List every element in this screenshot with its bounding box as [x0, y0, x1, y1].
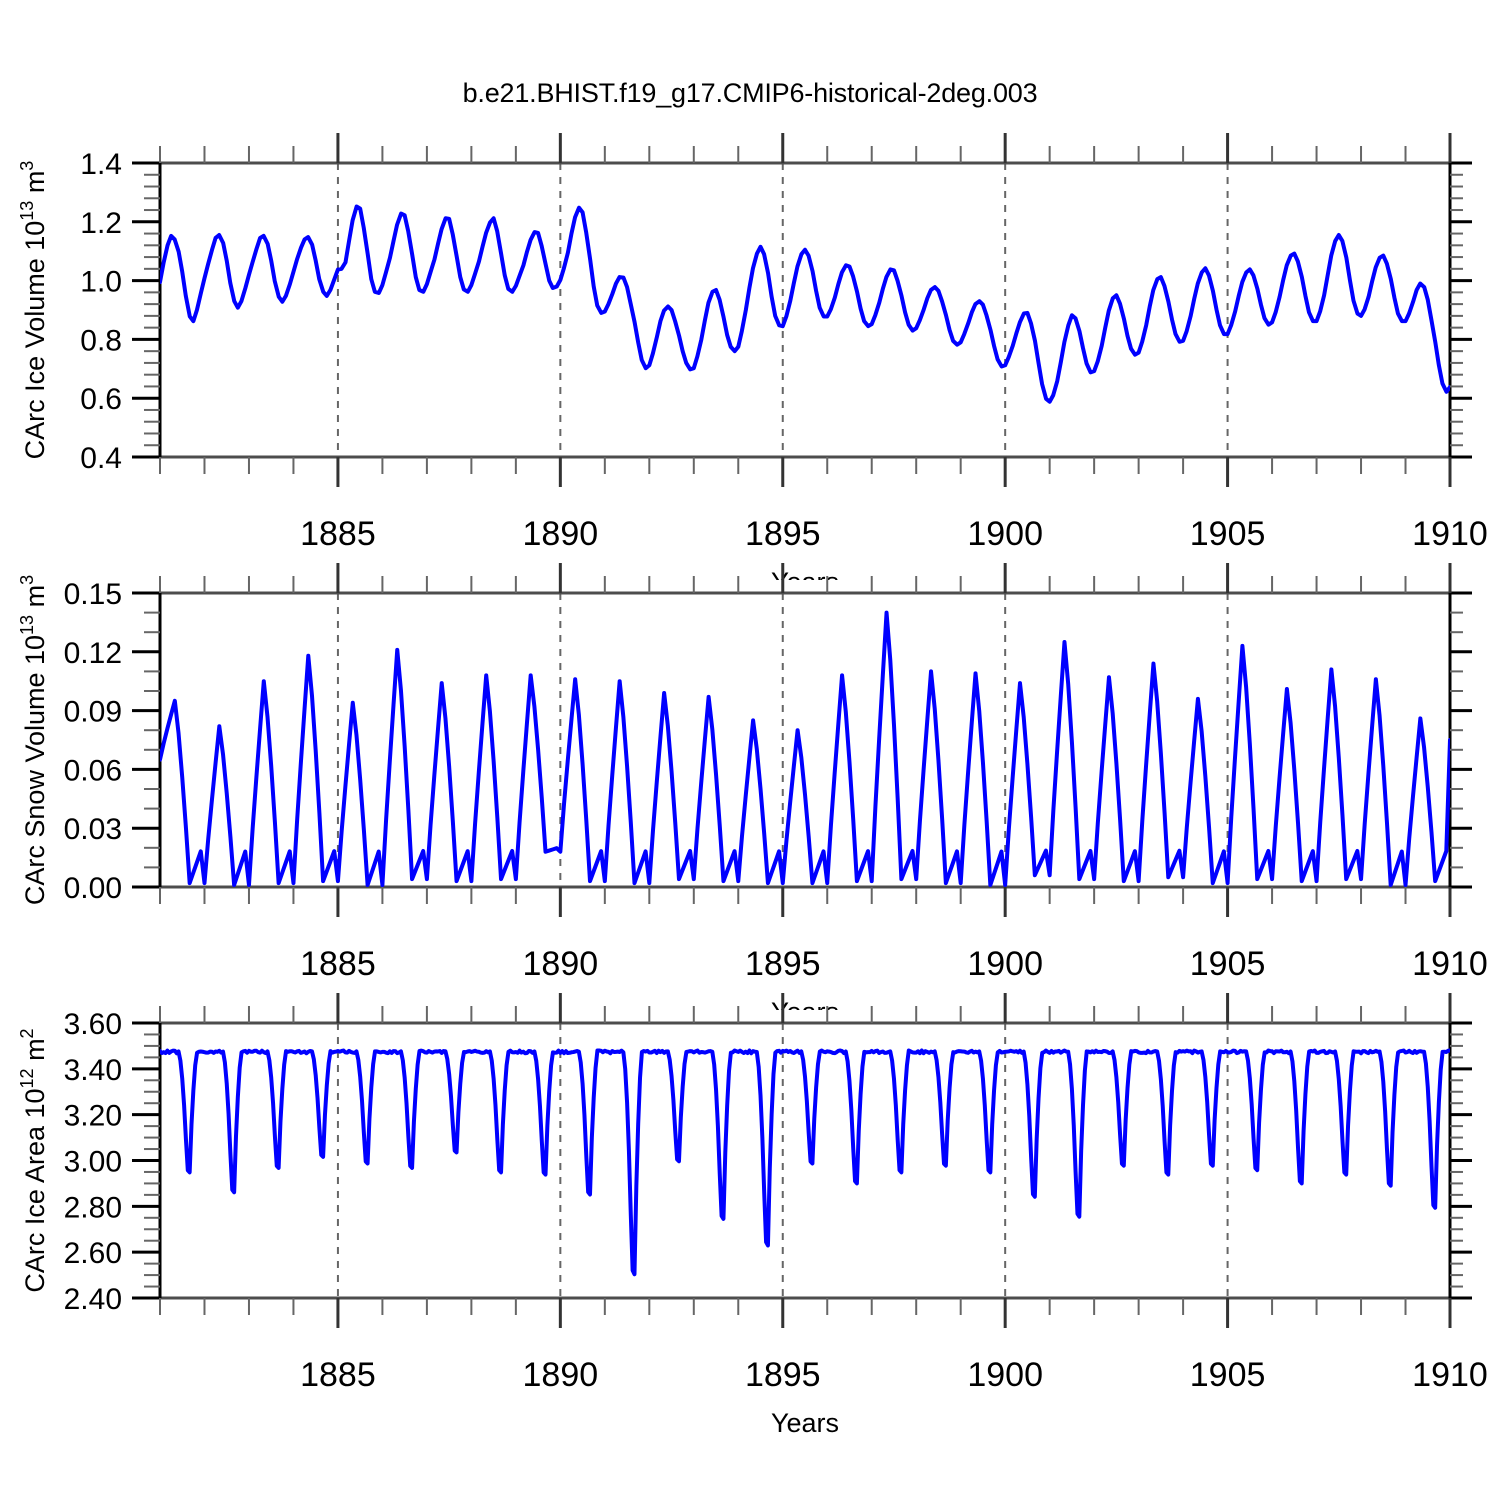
xtick-label: 1905 — [1190, 1356, 1266, 1394]
xtick-label: 1895 — [745, 945, 821, 983]
ytick-label: 0.03 — [64, 813, 122, 846]
y-axis-label: CArc Ice Volume 1013 m3 — [17, 161, 50, 460]
chart-page: b.e21.BHIST.f19_g17.CMIP6-historical-2de… — [0, 0, 1500, 1500]
chart-svg-carc-ice-area: 2.402.602.803.003.203.403.60188518901895… — [0, 980, 1500, 1450]
xtick-label: 1885 — [300, 1356, 376, 1394]
panel-snow-volume: 0.000.030.060.090.120.151885189018951900… — [0, 550, 1500, 1010]
xtick-label: 1910 — [1412, 1356, 1488, 1394]
xtick-label: 1890 — [523, 515, 599, 553]
xtick-label: 1900 — [967, 515, 1043, 553]
y-axis-label: CArc Ice Area 1012 m2 — [17, 1028, 50, 1292]
xtick-label: 1910 — [1412, 515, 1488, 553]
ytick-label: 3.00 — [64, 1146, 122, 1179]
ytick-label: 0.00 — [64, 872, 122, 905]
chart-svg-carc-snow-volume: 0.000.030.060.090.120.151885189018951900… — [0, 550, 1500, 1010]
panel-ice-volume: 0.40.60.81.01.21.41885189018951900190519… — [0, 120, 1500, 580]
xtick-label: 1900 — [967, 945, 1043, 983]
xtick-label: 1895 — [745, 1356, 821, 1394]
y-axis-label: CArc Snow Volume 1013 m3 — [17, 575, 50, 905]
ytick-label: 3.60 — [64, 1008, 122, 1041]
xtick-label: 1890 — [523, 1356, 599, 1394]
data-line-carc-snow-volume — [160, 613, 1450, 885]
svg-text:CArc Ice Area 1012 m2: CArc Ice Area 1012 m2 — [17, 1028, 50, 1292]
ytick-label: 3.20 — [64, 1100, 122, 1133]
xtick-label: 1910 — [1412, 945, 1488, 983]
xtick-label: 1905 — [1190, 515, 1266, 553]
ytick-label: 0.4 — [80, 442, 122, 475]
xtick-label: 1885 — [300, 945, 376, 983]
xtick-label: 1895 — [745, 515, 821, 553]
x-axis-label: Years — [771, 1408, 839, 1438]
svg-text:CArc Ice Volume 1013 m3: CArc Ice Volume 1013 m3 — [17, 161, 50, 460]
page-title: b.e21.BHIST.f19_g17.CMIP6-historical-2de… — [0, 78, 1500, 109]
ytick-label: 0.15 — [64, 578, 122, 611]
data-line-carc-ice-volume — [160, 207, 1450, 402]
ytick-label: 3.40 — [64, 1054, 122, 1087]
ytick-label: 0.09 — [64, 696, 122, 729]
chart-svg-carc-ice-volume: 0.40.60.81.01.21.41885189018951900190519… — [0, 120, 1500, 580]
data-line-carc-ice-area — [160, 1051, 1450, 1275]
xtick-label: 1890 — [523, 945, 599, 983]
svg-text:CArc Snow Volume 1013 m3: CArc Snow Volume 1013 m3 — [17, 575, 50, 905]
ytick-label: 0.06 — [64, 754, 122, 787]
ytick-label: 0.8 — [80, 324, 122, 357]
xtick-label: 1900 — [967, 1356, 1043, 1394]
ytick-label: 1.2 — [80, 207, 122, 240]
ytick-label: 1.4 — [80, 148, 122, 181]
ytick-label: 2.80 — [64, 1191, 122, 1224]
xtick-label: 1885 — [300, 515, 376, 553]
xtick-label: 1905 — [1190, 945, 1266, 983]
ytick-label: 0.12 — [64, 637, 122, 670]
ytick-label: 0.6 — [80, 383, 122, 416]
panel-ice-area: 2.402.602.803.003.203.403.60188518901895… — [0, 980, 1500, 1450]
ytick-label: 1.0 — [80, 266, 122, 299]
ytick-label: 2.40 — [64, 1283, 122, 1316]
ytick-label: 2.60 — [64, 1237, 122, 1270]
